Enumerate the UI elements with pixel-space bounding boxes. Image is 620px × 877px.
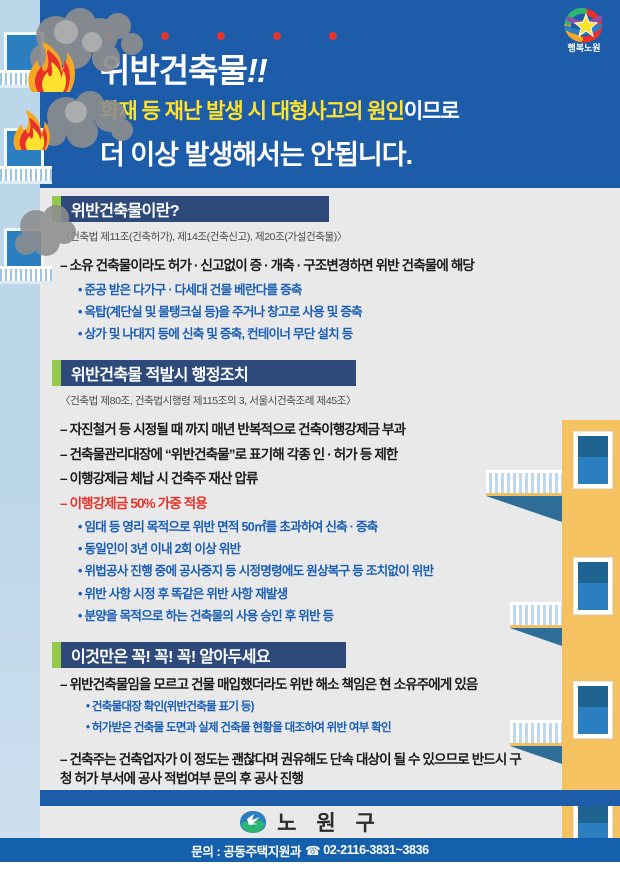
heading-accent-bar — [52, 642, 61, 668]
section-definition: 위반건축물이란? 〈건축법 제11조(건축허가), 제14조(건축신고), 제2… — [52, 196, 522, 343]
poster-header: 위반건축물!! 화재 등 재난 발생 시 대형사고의 원인이므로 더 이상 발생… — [0, 0, 620, 188]
page-title-exclamation: !! — [247, 52, 267, 89]
heading-accent-bar — [52, 360, 61, 386]
header-text-block: 위반건축물!! 화재 등 재난 발생 시 대형사고의 원인이므로 더 이상 발생… — [100, 0, 620, 188]
subtitle-line-1: 화재 등 재난 발생 시 대형사고의 원인이므로 — [100, 95, 459, 125]
poster-root: 위반건축물!! 화재 등 재난 발생 시 대형사고의 원인이므로 더 이상 발생… — [0, 0, 620, 877]
list-item: 건축물대장 확인(위반건축물 표기 등) — [86, 699, 522, 716]
list-item: 동일인이 3년 이내 2회 이상 위반 — [78, 540, 522, 558]
list-item-emphasis: 이행강제금 50% 가중 적용 — [60, 494, 522, 514]
section-heading-label: 위반건축물이란? — [61, 196, 329, 222]
list-item: 옥탑(계단실 및 물탱크실 등)을 주거나 창고로 사용 및 증축 — [78, 303, 522, 321]
list-item: 건축물관리대장에 “위반건축물”로 표기해 각종 인 · 허가 등 제한 — [60, 445, 522, 465]
section-heading: 위반건축물이란? — [52, 196, 329, 222]
building-window — [574, 682, 612, 738]
left-building-balcony — [0, 266, 52, 284]
left-building-balcony — [0, 70, 52, 88]
section-heading-label: 이것만은 꼭! 꼭! 꼭! 알아두세요 — [61, 642, 346, 668]
contact-label: 문의 : 공동주택지원과 — [191, 841, 301, 860]
list-item: 위반건축물임을 모르고 건물 매입했더라도 위반 해소 책임은 현 소유주에게 … — [60, 675, 522, 695]
svg-text:행복노원: 행복노원 — [567, 42, 600, 53]
happy-nowon-logo: 행복노원 — [558, 6, 610, 54]
section-heading: 이것만은 꼭! 꼭! 꼭! 알아두세요 — [52, 642, 346, 668]
heading-accent-bar — [52, 196, 61, 222]
nowon-gu-emblem — [238, 810, 268, 834]
contact-phone[interactable]: 02-2116-3831~3836 — [323, 843, 428, 857]
footer-logo-block: 노 원 구 — [0, 806, 620, 838]
contact-bar: 문의 : 공동주택지원과 ☎ 02-2116-3831~3836 — [0, 838, 620, 862]
list-item: 위반 사항 시정 후 똑같은 위반 사항 재발생 — [78, 585, 522, 603]
building-window — [574, 432, 612, 488]
gu-name-label: 노 원 구 — [277, 807, 382, 837]
list-item: 위법공사 진행 중에 공사중지 등 시정명령에도 원상복구 등 조치없이 위반 — [78, 562, 522, 580]
subtitle-line-2: 더 이상 발생해서는 안됩니다. — [100, 133, 412, 172]
law-reference: 〈건축법 제80조, 건축법시행령 제115조의 3, 서울시건축조례 제45조… — [60, 393, 522, 408]
law-reference: 〈건축법 제11조(건축허가), 제14조(건축신고), 제20조(가설건축물)… — [60, 229, 522, 244]
list-item: 허가받은 건축물 도면과 실제 건축물 현황을 대조하여 위반 여부 확인 — [86, 720, 522, 737]
building-window — [574, 558, 612, 614]
list-item: 소유 건축물이라도 허가 · 신고없이 증 · 개축 · 구조변경하면 위반 건… — [60, 256, 522, 276]
list-item: 상가 및 나대지 등에 신축 및 증축, 컨테이너 무단 설치 등 — [78, 325, 522, 343]
list-item: 이행강제금 체납 시 건축주 재산 압류 — [60, 469, 522, 489]
bottom-margin — [0, 862, 620, 877]
page-title: 위반건축물!! — [100, 44, 267, 92]
section-heading-label: 위반건축물 적발시 행정조치 — [61, 360, 356, 386]
section-administrative-measures: 위반건축물 적발시 행정조치 〈건축법 제80조, 건축법시행령 제115조의 … — [52, 360, 522, 625]
subtitle-highlight: 화재 등 재난 발생 시 대형사고의 원인 — [100, 100, 404, 123]
burning-building-illustration — [0, 0, 40, 877]
poster-content: 위반건축물이란? 〈건축법 제11조(건축허가), 제14조(건축신고), 제2… — [52, 196, 522, 794]
list-item: 분양을 목적으로 하는 건축물의 사용 승인 후 위반 등 — [78, 607, 522, 625]
subtitle-tail: 이므로 — [404, 100, 459, 123]
list-item: 준공 받은 다가구 · 다세대 건물 베란다를 증축 — [78, 281, 522, 299]
section-heading: 위반건축물 적발시 행정조치 — [52, 360, 356, 386]
left-building-balcony — [0, 166, 52, 184]
list-item: 건축주는 건축업자가 이 정도는 괜찮다며 권유해도 단속 대상이 될 수 있으… — [60, 750, 522, 789]
list-item: 자진철거 등 시정될 때 까지 매년 반복적으로 건축이행강제금 부과 — [60, 420, 522, 440]
page-title-text: 위반건축물 — [100, 52, 247, 89]
list-item: 임대 등 영리 목적으로 위반 면적 50㎡를 초과하여 신축 · 증축 — [78, 518, 522, 536]
section-must-know: 이것만은 꼭! 꼭! 꼭! 알아두세요 위반건축물임을 모르고 건물 매입했더라… — [52, 642, 522, 789]
red-dots-decoration — [105, 32, 337, 40]
telephone-icon: ☎ — [305, 843, 320, 858]
